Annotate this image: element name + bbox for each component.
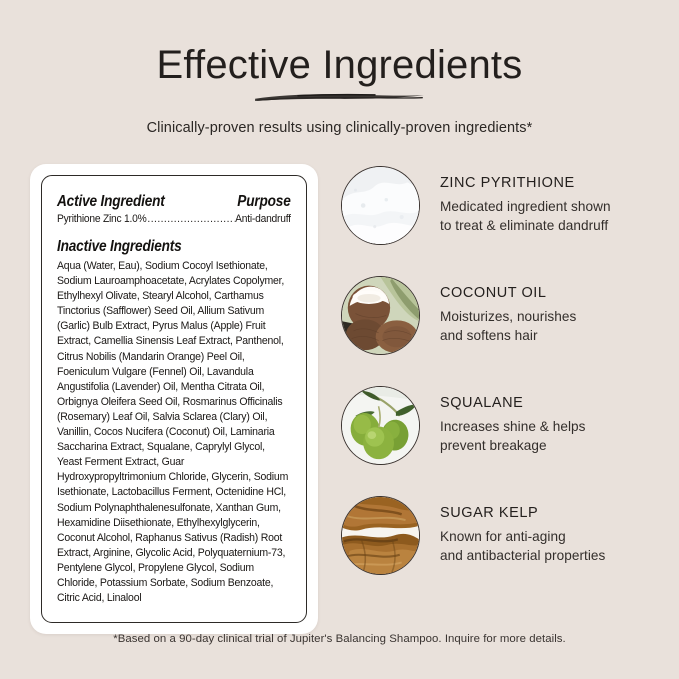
active-ingredient-heading: Active Ingredient (57, 193, 165, 211)
brush-stroke-underline-icon (249, 90, 431, 104)
highlight-description: Increases shine & helps prevent breakage (440, 417, 585, 455)
highlight-description: Known for anti-aging and antibacterial p… (440, 527, 605, 565)
highlight-text-squalane: SQUALANE Increases shine & helps prevent… (420, 386, 585, 455)
highlight-text-sugar-kelp: SUGAR KELP Known for anti-aging and anti… (420, 496, 605, 565)
highlight-description: Medicated ingredient shown to treat & el… (440, 197, 611, 235)
ingredient-highlights-list: ZINC PYRITHIONE Medicated ingredient sho… (318, 164, 653, 606)
white-powder-photo-icon (341, 166, 420, 245)
page-header: Effective Ingredients Clinically-proven … (0, 0, 679, 136)
ingredient-label-card: Active Ingredient Purpose Pyrithione Zin… (30, 164, 318, 634)
main-content: Active Ingredient Purpose Pyrithione Zin… (0, 164, 679, 634)
page-subtitle: Clinically-proven results using clinical… (0, 120, 679, 136)
highlight-name: ZINC PYRITHIONE (440, 175, 611, 191)
active-ingredient-purpose: Anti-dandruff (235, 213, 291, 225)
dot-leader: ........................................… (147, 213, 234, 225)
highlight-name: SQUALANE (440, 395, 585, 411)
active-ingredient-row: Pyrithione Zinc 1.0% ...................… (57, 213, 291, 225)
active-ingredient-header-row: Active Ingredient Purpose (57, 193, 291, 211)
highlight-description: Moisturizes, nourishes and softens hair (440, 307, 576, 345)
active-ingredient-name: Pyrithione Zinc 1.0% (57, 213, 147, 225)
highlight-text-zinc-pyrithione: ZINC PYRITHIONE Medicated ingredient sho… (420, 166, 611, 235)
purpose-heading: Purpose (238, 193, 291, 211)
highlight-text-coconut-oil: COCONUT OIL Moisturizes, nourishes and s… (420, 276, 576, 345)
highlight-item-zinc-pyrithione: ZINC PYRITHIONE Medicated ingredient sho… (341, 166, 653, 276)
page-title: Effective Ingredients (0, 44, 679, 86)
green-olives-photo-icon (341, 386, 420, 465)
highlight-item-squalane: SQUALANE Increases shine & helps prevent… (341, 386, 653, 496)
sugar-kelp-photo-icon (341, 496, 420, 575)
highlight-item-coconut-oil: COCONUT OIL Moisturizes, nourishes and s… (341, 276, 653, 386)
footnote: *Based on a 90-day clinical trial of Jup… (0, 633, 679, 645)
inactive-ingredients-heading: Inactive Ingredients (57, 238, 263, 256)
highlight-name: SUGAR KELP (440, 505, 605, 521)
coconut-photo-icon (341, 276, 420, 355)
highlight-name: COCONUT OIL (440, 285, 576, 301)
inactive-ingredients-list: Aqua (Water, Eau), Sodium Cocoyl Isethio… (57, 259, 291, 606)
highlight-item-sugar-kelp: SUGAR KELP Known for anti-aging and anti… (341, 496, 653, 606)
ingredient-label-border: Active Ingredient Purpose Pyrithione Zin… (41, 175, 307, 623)
